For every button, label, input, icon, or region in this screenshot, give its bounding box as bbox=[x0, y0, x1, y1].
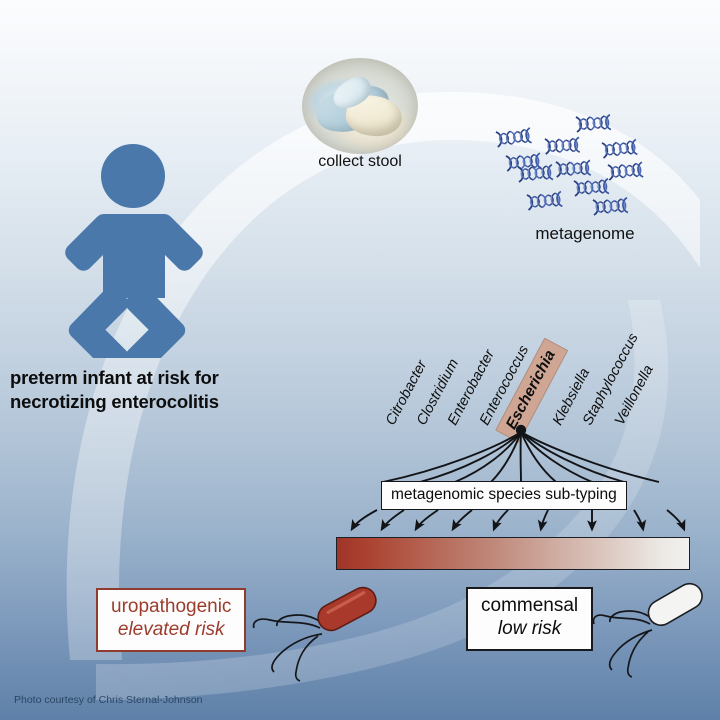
risk-gradient-bar bbox=[336, 537, 690, 570]
commensal-risk-box: commensal low risk bbox=[466, 587, 593, 651]
figure-canvas: preterm infant at risk for necrotizing e… bbox=[0, 0, 720, 720]
uropathogenic-bacterium-icon bbox=[246, 584, 396, 682]
commensal-risk-level: low risk bbox=[481, 618, 578, 641]
uropathogenic-risk-box: uropathogenic elevated risk bbox=[96, 588, 246, 652]
photo-credit: Photo courtesy of Chris Sternal-Johnson bbox=[14, 694, 203, 706]
uropathogenic-label: uropathogenic bbox=[111, 596, 231, 619]
commensal-bacterium-icon bbox=[592, 580, 718, 678]
commensal-label: commensal bbox=[481, 595, 578, 618]
uropathogenic-risk-level: elevated risk bbox=[111, 619, 231, 642]
subtyping-box: metagenomic species sub-typing bbox=[381, 481, 627, 510]
